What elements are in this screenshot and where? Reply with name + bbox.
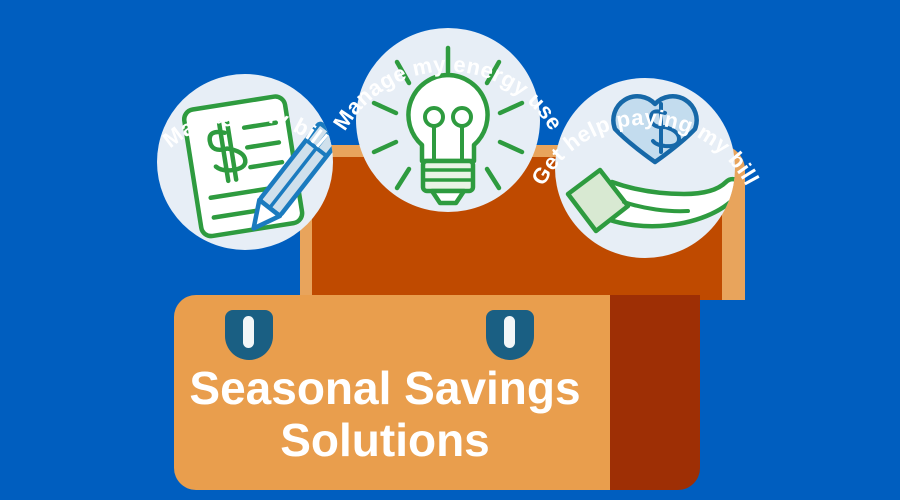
toolbox-title-line-1: Seasonal Savings (189, 362, 580, 414)
badge-hit-manage-my-energy-use[interactable] (356, 28, 540, 212)
badge-hit-manage-my-bill[interactable] (157, 74, 333, 250)
toolbox-latch-right (486, 310, 534, 360)
illustration-canvas: Seasonal Savings Solutions (0, 0, 900, 500)
badge-hit-get-help-paying-my-bill[interactable] (555, 78, 735, 258)
toolbox-title-line-2: Solutions (280, 414, 490, 466)
toolbox-latch-left (225, 310, 273, 360)
